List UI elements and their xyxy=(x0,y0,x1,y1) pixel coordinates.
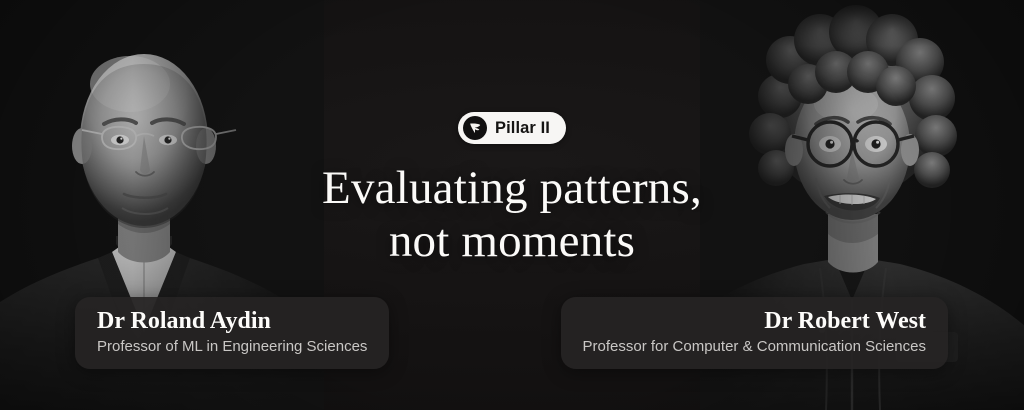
center-content: Pillar II Evaluating patterns, not momen… xyxy=(0,112,1024,299)
headline-line-2: not moments xyxy=(322,215,702,268)
headline-line-1: Evaluating patterns, xyxy=(322,162,702,215)
speaker-name-left: Dr Roland Aydin xyxy=(97,308,367,335)
speaker-name-right: Dr Robert West xyxy=(583,308,926,335)
page-title: Evaluating patterns, not moments xyxy=(322,162,702,267)
pillar-badge[interactable]: Pillar II xyxy=(458,112,566,144)
speaker-role-right: Professor for Computer & Communication S… xyxy=(583,338,926,356)
speaker-announcement-banner: Pillar II Evaluating patterns, not momen… xyxy=(0,0,1024,410)
speaker-plate-right: Dr Robert West Professor for Computer & … xyxy=(561,297,948,369)
pillar-badge-label: Pillar II xyxy=(495,120,550,137)
speaker-plate-left: Dr Roland Aydin Professor of ML in Engin… xyxy=(75,297,389,369)
leaf-logo-icon xyxy=(463,116,487,140)
speaker-role-left: Professor of ML in Engineering Sciences xyxy=(97,338,367,356)
